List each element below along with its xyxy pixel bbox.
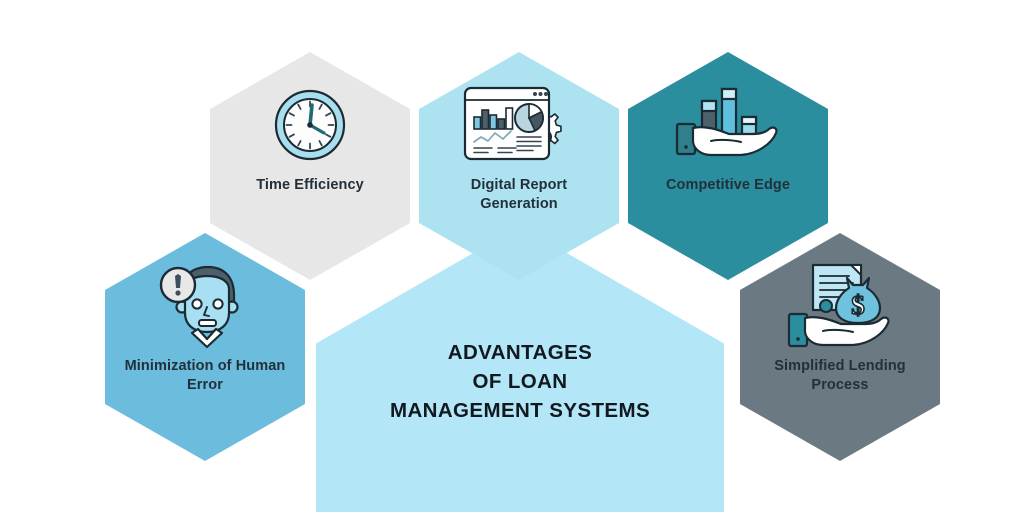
report-dashboard-icon — [467, 86, 571, 164]
hexagon-label-digital-report-generation: Digital Report Generation — [419, 176, 619, 214]
hexagon-digital-report-generation[interactable]: Digital Report Generation — [419, 52, 619, 280]
hexagon-minimization-of-human-error[interactable]: Minimization of Human Error — [105, 233, 305, 461]
hexagon-competitive-edge[interactable]: Competitive Edge — [628, 52, 828, 280]
svg-text:$: $ — [851, 290, 865, 320]
hexagon-label-time-efficiency: Time Efficiency — [242, 176, 378, 195]
hexagon-label-simplified-lending-process: Simplified Lending Process — [740, 357, 940, 395]
page-title: ADVANTAGES OF LOAN MANAGEMENT SYSTEMS — [316, 338, 724, 425]
hand-holding-money-document-icon: $ — [788, 267, 892, 345]
hexagon-time-efficiency[interactable]: Time Efficiency — [210, 52, 410, 280]
infographic-canvas: ADVANTAGES OF LOAN MANAGEMENT SYSTEMS — [0, 0, 1024, 512]
hexagon-simplified-lending-process[interactable]: $ Simplified Lending Process — [740, 233, 940, 461]
clock-icon — [258, 86, 362, 164]
hand-holding-bars-icon — [676, 86, 780, 164]
hexagon-label-competitive-edge: Competitive Edge — [652, 176, 804, 195]
person-alert-icon — [153, 267, 257, 345]
hexagon-label-minimization-of-human-error: Minimization of Human Error — [105, 357, 305, 395]
